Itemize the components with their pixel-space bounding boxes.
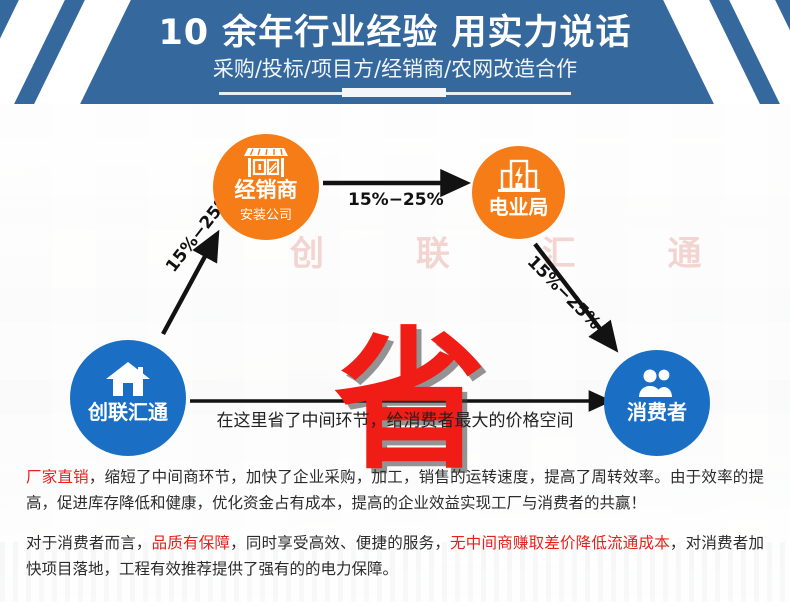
footer-copy: 厂家直销，缩短了中间商环节，加快了企业采购，加工，销售的运转速度，提高了周转效率…: [0, 452, 790, 602]
copy-highlight-direct-sales: 厂家直销: [26, 468, 89, 486]
diagram-bottom-caption: 在这里省了中间环节，给消费者最大的价格空间: [195, 406, 595, 431]
node-dealer-sublabel: 安装公司: [213, 204, 319, 223]
header-subtitle: 采购/投标/项目方/经销商/农网改造合作: [0, 56, 790, 82]
copy-highlight-quality: 品质有保障: [152, 534, 231, 552]
copy-paragraph-1: 厂家直销，缩短了中间商环节，加快了企业采购，加工，销售的运转速度，提高了周转效率…: [26, 464, 764, 516]
storefront-icon: [244, 145, 288, 177]
copy-paragraph-2: 对于消费者而言，品质有保障，同时享受高效、便捷的服务，无中间商赚取差价降低流通成…: [26, 530, 764, 582]
node-factory[interactable]: 创联汇通: [70, 340, 186, 456]
copy-highlight-no-middleman: 无中间商赚取差价降低流通成本: [450, 534, 670, 552]
node-power-bureau-label: 电业局: [472, 197, 565, 218]
power-building-icon: [498, 159, 540, 193]
copy-paragraph-2-a: 对于消费者而言，: [26, 534, 152, 552]
header-divider-center: [342, 88, 446, 97]
edge-label-dealer-to-power: 15%−25%: [348, 190, 444, 210]
node-power-bureau[interactable]: 电业局: [472, 146, 565, 239]
header-title: 10 余年行业经验 用实力说话: [0, 12, 790, 54]
node-dealer[interactable]: 经销商 安装公司: [213, 134, 319, 240]
people-icon: [634, 367, 680, 399]
node-dealer-label: 经销商: [213, 179, 319, 201]
node-consumer[interactable]: 消费者: [604, 350, 710, 456]
house-icon: [105, 360, 151, 398]
node-consumer-label: 消费者: [604, 402, 710, 423]
copy-paragraph-1-rest: ，缩短了中间商环节，加快了企业采购，加工，销售的运转速度，提高了周转效率。由于效…: [26, 468, 764, 512]
node-factory-label: 创联汇通: [70, 402, 186, 423]
copy-paragraph-2-b: ，同时享受高效、便捷的服务，: [230, 534, 450, 552]
header-banner: 10 余年行业经验 用实力说话 采购/投标/项目方/经销商/农网改造合作: [0, 0, 790, 104]
infographic-page: 10 余年行业经验 用实力说话 采购/投标/项目方/经销商/农网改造合作 创 联…: [0, 0, 790, 602]
